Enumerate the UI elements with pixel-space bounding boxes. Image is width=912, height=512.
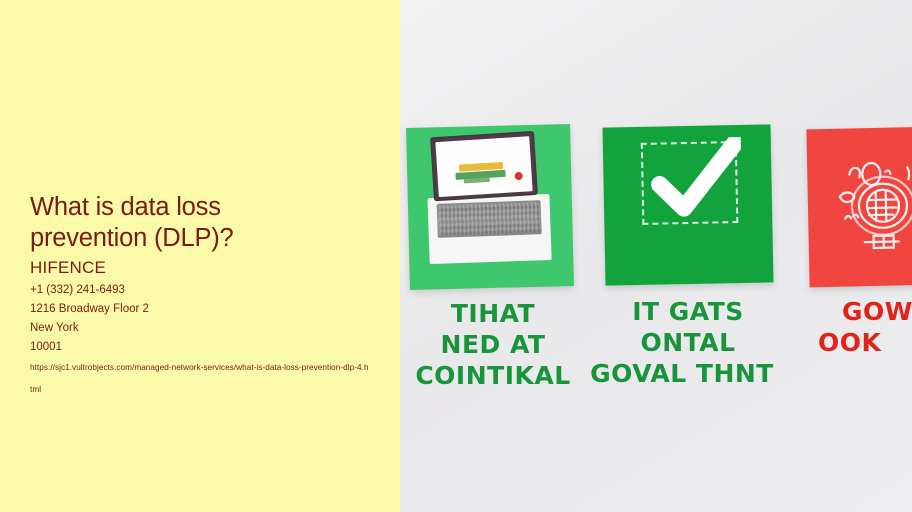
caption-laptop-card: TIHAT NED AT COINTIKAL	[400, 298, 588, 391]
caption-line: OOK	[818, 327, 912, 358]
laptop-lid	[430, 131, 538, 201]
info-text-block: What is data loss prevention (DLP)? HIFE…	[30, 192, 375, 401]
slide-root: What is data loss prevention (DLP)? HIFE…	[0, 0, 912, 512]
zip-code: 10001	[30, 338, 375, 357]
sketch-lock-icon	[819, 141, 912, 275]
caption-line: IT GATS	[590, 296, 786, 327]
city: New York	[30, 319, 375, 338]
laptop-icon	[426, 133, 551, 264]
checkmark-icon	[641, 141, 739, 225]
page-title: What is data loss prevention (DLP)?	[30, 192, 300, 254]
source-url[interactable]: https://sjc1.vultrobjects.com/managed-ne…	[30, 357, 370, 401]
check-glyph	[649, 137, 743, 225]
screen-bar-green-small	[464, 178, 490, 184]
photo-background: TIHAT NED AT COINTIKAL IT GATS ONTAL GOV…	[400, 0, 912, 512]
caption-checkmark-card: IT GATS ONTAL GOVAL THNT	[590, 296, 786, 389]
caption-line: GOVAL THNT	[578, 358, 786, 389]
right-image-panel: TIHAT NED AT COINTIKAL IT GATS ONTAL GOV…	[400, 0, 912, 512]
caption-line: COINTIKAL	[400, 360, 588, 391]
street-address: 1216 Broadway Floor 2	[30, 300, 375, 319]
laptop-card	[406, 124, 574, 290]
phone-number: +1 (332) 241-6493	[30, 281, 375, 300]
screen-dot-red	[514, 172, 522, 180]
laptop-keyboard	[437, 200, 542, 238]
caption-alert-card: GOW OOK	[818, 296, 912, 358]
caption-line: GOW	[818, 296, 912, 327]
brand-name: HIFENCE	[30, 257, 375, 279]
laptop-base	[427, 194, 551, 264]
caption-line: TIHAT	[400, 298, 588, 329]
alert-card	[806, 127, 912, 288]
caption-line: ONTAL	[590, 327, 786, 358]
caption-line: NED AT	[400, 329, 588, 360]
left-info-panel: What is data loss prevention (DLP)? HIFE…	[0, 0, 400, 512]
checkmark-card	[602, 124, 773, 285]
laptop-screen	[435, 136, 532, 197]
